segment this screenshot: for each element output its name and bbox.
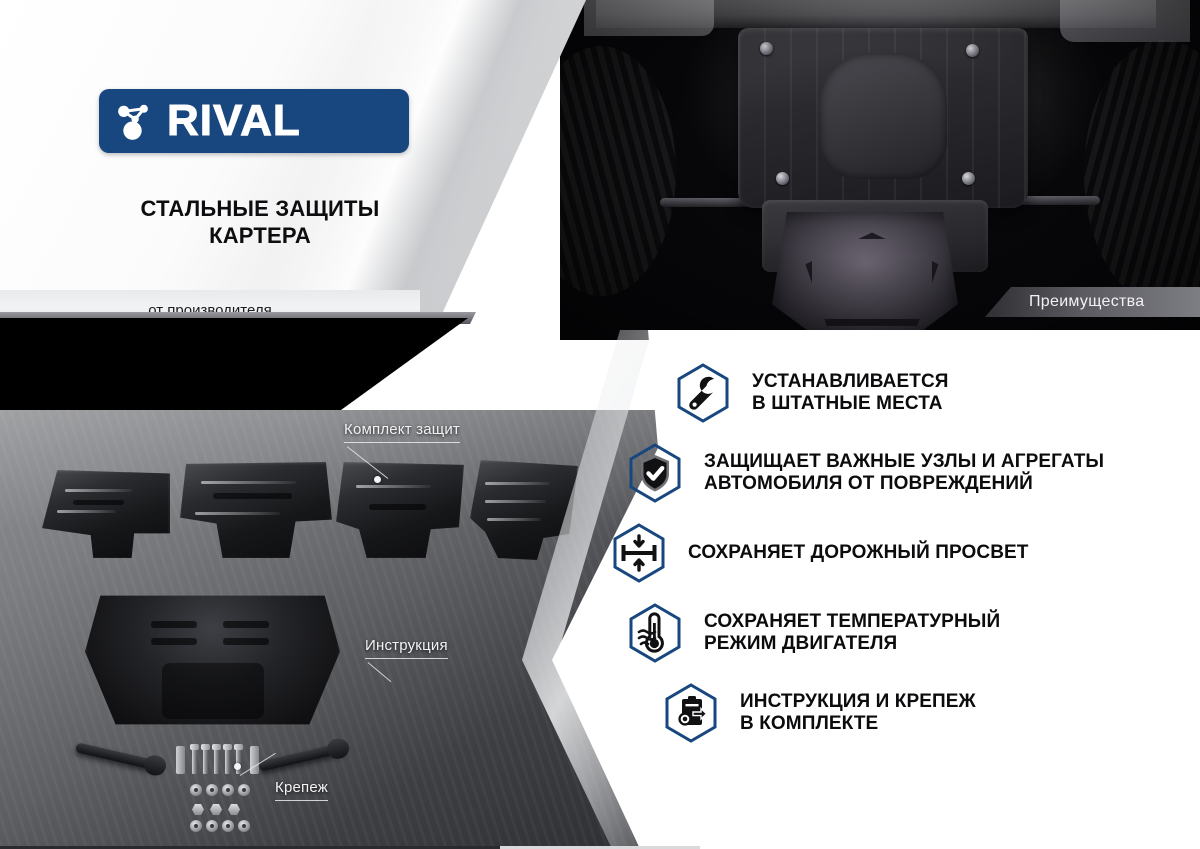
washer [206,820,218,832]
plate-rib [487,518,541,521]
panel-sheen [0,0,586,340]
plate-rib [65,489,132,492]
feature-temperature-line1: СОХРАНЯЕТ ТЕМПЕРАТУРНЫЙ [704,611,1000,633]
feature-temperature-line2: РЕЖИМ ДВИГАТЕЛЯ [704,633,1000,655]
washer [190,784,202,796]
washer [238,784,250,796]
feature-protect-line2: АВТОМОБИЛЯ ОТ ПОВРЕЖДЕНИЙ [704,473,1104,495]
mounting-bracket-right [258,742,346,772]
callout-hardware: Крепеж [275,779,328,796]
nut [228,804,240,815]
feature-kit-line2: В КОМПЛЕКТЕ [740,713,976,735]
callout-underline [344,442,460,443]
feature-install: УСТАНАВЛИВАЕТСЯ В ШТАТНЫЕ МЕСТА [672,362,1200,424]
callout-manual-label: Инструкция [365,637,448,654]
feature-kit-line1: ИНСТРУКЦИЯ И КРЕПЕЖ [740,691,976,713]
thermometer-icon [624,602,686,664]
feature-install-line2: В ШТАТНЫЕ МЕСТА [752,393,949,415]
plate-groove [369,504,425,510]
plate-rib [195,512,280,515]
bolt [192,748,197,774]
callout-manual: Инструкция [365,637,448,654]
plate-vent [151,638,197,645]
callout-hardware-label: Крепеж [275,779,328,796]
plate-rib [485,500,545,503]
callout-underline [365,658,448,659]
advantages-tab-label: Преимущества [1029,293,1144,311]
nut [210,804,222,815]
feature-protect: ЗАЩИЩАЕТ ВАЖНЫЕ УЗЛЫ И АГРЕГАТЫ АВТОМОБИ… [624,442,1200,504]
ground-clearance-icon [608,522,670,584]
bolt [214,748,219,774]
skid-plate-item [336,462,464,558]
feature-protect-text: ЗАЩИЩАЕТ ВАЖНЫЕ УЗЛЫ И АГРЕГАТЫ АВТОМОБИ… [704,451,1104,496]
washer [222,784,234,796]
feature-clearance-text: СОХРАНЯЕТ ДОРОЖНЫЙ ПРОСВЕТ [688,542,1029,564]
poster: Преимущества RIVAL СТАЛЬНЫЕ ЗАЩИТЫ КАРТЕ… [0,0,1200,849]
callout-kit-dot [374,476,381,483]
plate-rib [356,485,430,488]
molecule-icon [115,100,157,142]
fastener-strip [250,746,259,774]
shield-check-icon [624,442,686,504]
feature-temperature: СОХРАНЯЕТ ТЕМПЕРАТУРНЫЙ РЕЖИМ ДВИГАТЕЛЯ [624,602,1200,664]
brand-name: RIVAL [167,99,301,143]
main-skid-plate [85,590,340,730]
features-list: УСТАНАВЛИВАЕТСЯ В ШТАТНЫЕ МЕСТА ЗАЩИЩАЕТ… [600,362,1200,762]
callout-kit: Комплект защит [344,421,460,438]
washer [222,820,234,832]
washer [206,784,218,796]
headline-line-2: КАРТЕРА [60,223,460,250]
manual-hardware-icon [660,682,722,744]
plate-vent [223,621,269,628]
bolt [236,748,241,774]
feature-protect-line1: ЗАЩИЩАЕТ ВАЖНЫЕ УЗЛЫ И АГРЕГАТЫ [704,451,1104,473]
skid-plate-item [180,462,332,558]
mounting-bracket-left [75,742,163,772]
skid-plate-item [42,470,170,558]
feature-temperature-text: СОХРАНЯЕТ ТЕМПЕРАТУРНЫЙ РЕЖИМ ДВИГАТЕЛЯ [704,611,1000,656]
plate-rib [201,481,295,484]
plate-rib [485,482,550,485]
advantages-tab: Преимущества [985,287,1200,317]
feature-install-line1: УСТАНАВЛИВАЕТСЯ [752,371,949,393]
title-panel [0,0,586,340]
washer [190,820,202,832]
feature-install-text: УСТАНАВЛИВАЕТСЯ В ШТАТНЫЕ МЕСТА [752,371,949,416]
headline-line-1: СТАЛЬНЫЕ ЗАЩИТЫ [60,196,460,223]
feature-kit-text: ИНСТРУКЦИЯ И КРЕПЕЖ В КОМПЛЕКТЕ [740,691,976,736]
callout-kit-label: Комплект защит [344,421,460,438]
page-title: СТАЛЬНЫЕ ЗАЩИТЫ КАРТЕРА [60,196,460,250]
feature-clearance-line1: СОХРАНЯЕТ ДОРОЖНЫЙ ПРОСВЕТ [688,542,1029,564]
nut [192,804,204,815]
plate-recess [162,663,264,719]
callout-hardware-dot [234,763,241,770]
plate-groove [73,500,124,505]
callout-underline [275,800,328,801]
plate-rib [57,510,116,513]
plate-groove [213,493,292,499]
feature-kit: ИНСТРУКЦИЯ И КРЕПЕЖ В КОМПЛЕКТЕ [660,682,1200,744]
brand-logo: RIVAL [99,89,409,153]
fastener-strip [176,746,185,774]
plate-vent [223,638,269,645]
feature-clearance: СОХРАНЯЕТ ДОРОЖНЫЙ ПРОСВЕТ [608,522,1200,584]
washer [238,820,250,832]
wrench-icon [672,362,734,424]
plate-vent [151,621,197,628]
bolt [203,748,208,774]
bolt [225,748,230,774]
